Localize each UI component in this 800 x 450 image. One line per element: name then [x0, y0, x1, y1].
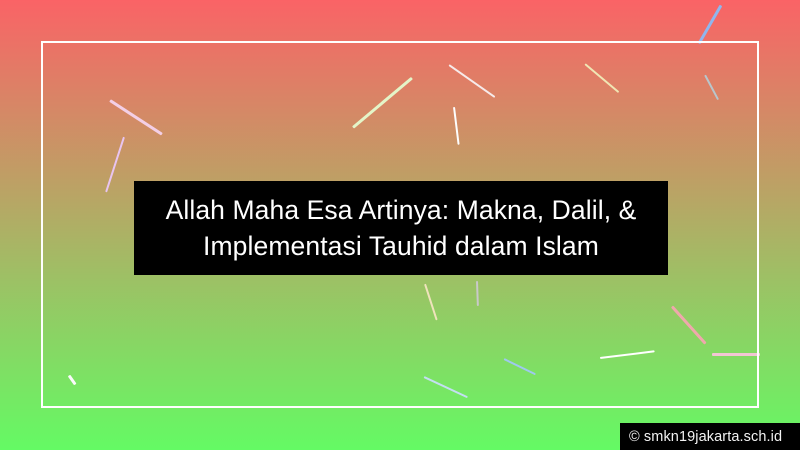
article-banner: Allah Maha Esa Artinya: Makna, Dalil, & … — [0, 0, 800, 450]
title-plate: Allah Maha Esa Artinya: Makna, Dalil, & … — [134, 181, 668, 275]
watermark-text: © smkn19jakarta.sch.id — [629, 429, 782, 445]
watermark-badge: © smkn19jakarta.sch.id — [620, 423, 800, 450]
page-title: Allah Maha Esa Artinya: Makna, Dalil, & … — [166, 192, 637, 264]
decorative-streak — [698, 5, 723, 45]
